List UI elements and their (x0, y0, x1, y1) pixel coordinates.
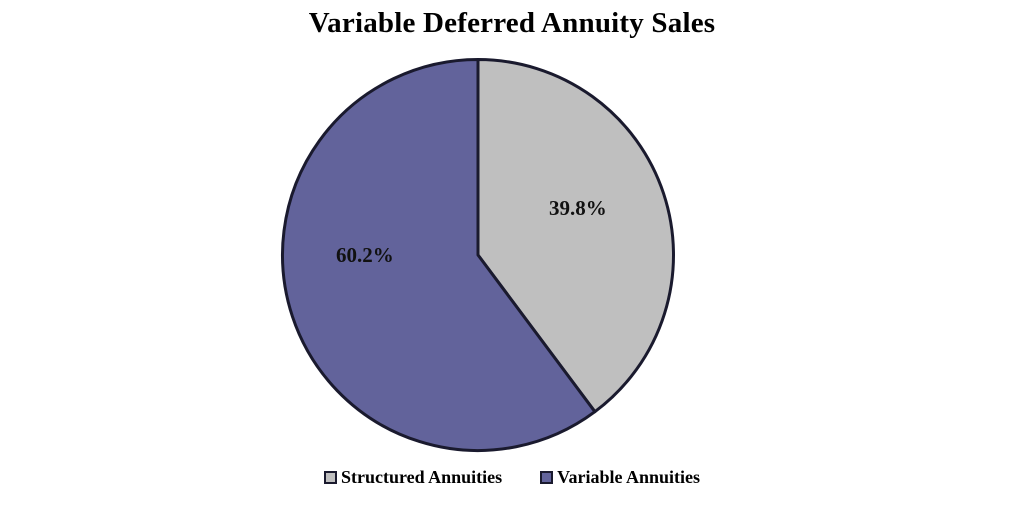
legend-item-structured-annuities[interactable]: Structured Annuities (324, 468, 502, 486)
legend-item-variable-annuities[interactable]: Variable Annuities (540, 468, 700, 486)
legend-swatch-icon-variable-annuities (540, 471, 553, 484)
chart-legend: Structured Annuities Variable Annuities (0, 468, 1024, 486)
pie-label-variable-annuities: 60.2% (336, 243, 394, 268)
chart-canvas: Variable Deferred Annuity Sales 39.8% 60… (0, 0, 1024, 512)
legend-label-variable-annuities: Variable Annuities (557, 468, 700, 486)
legend-swatch-icon-structured-annuities (324, 471, 337, 484)
pie-label-structured-annuities: 39.8% (549, 196, 607, 221)
chart-title: Variable Deferred Annuity Sales (0, 7, 1024, 40)
legend-label-structured-annuities: Structured Annuities (341, 468, 502, 486)
